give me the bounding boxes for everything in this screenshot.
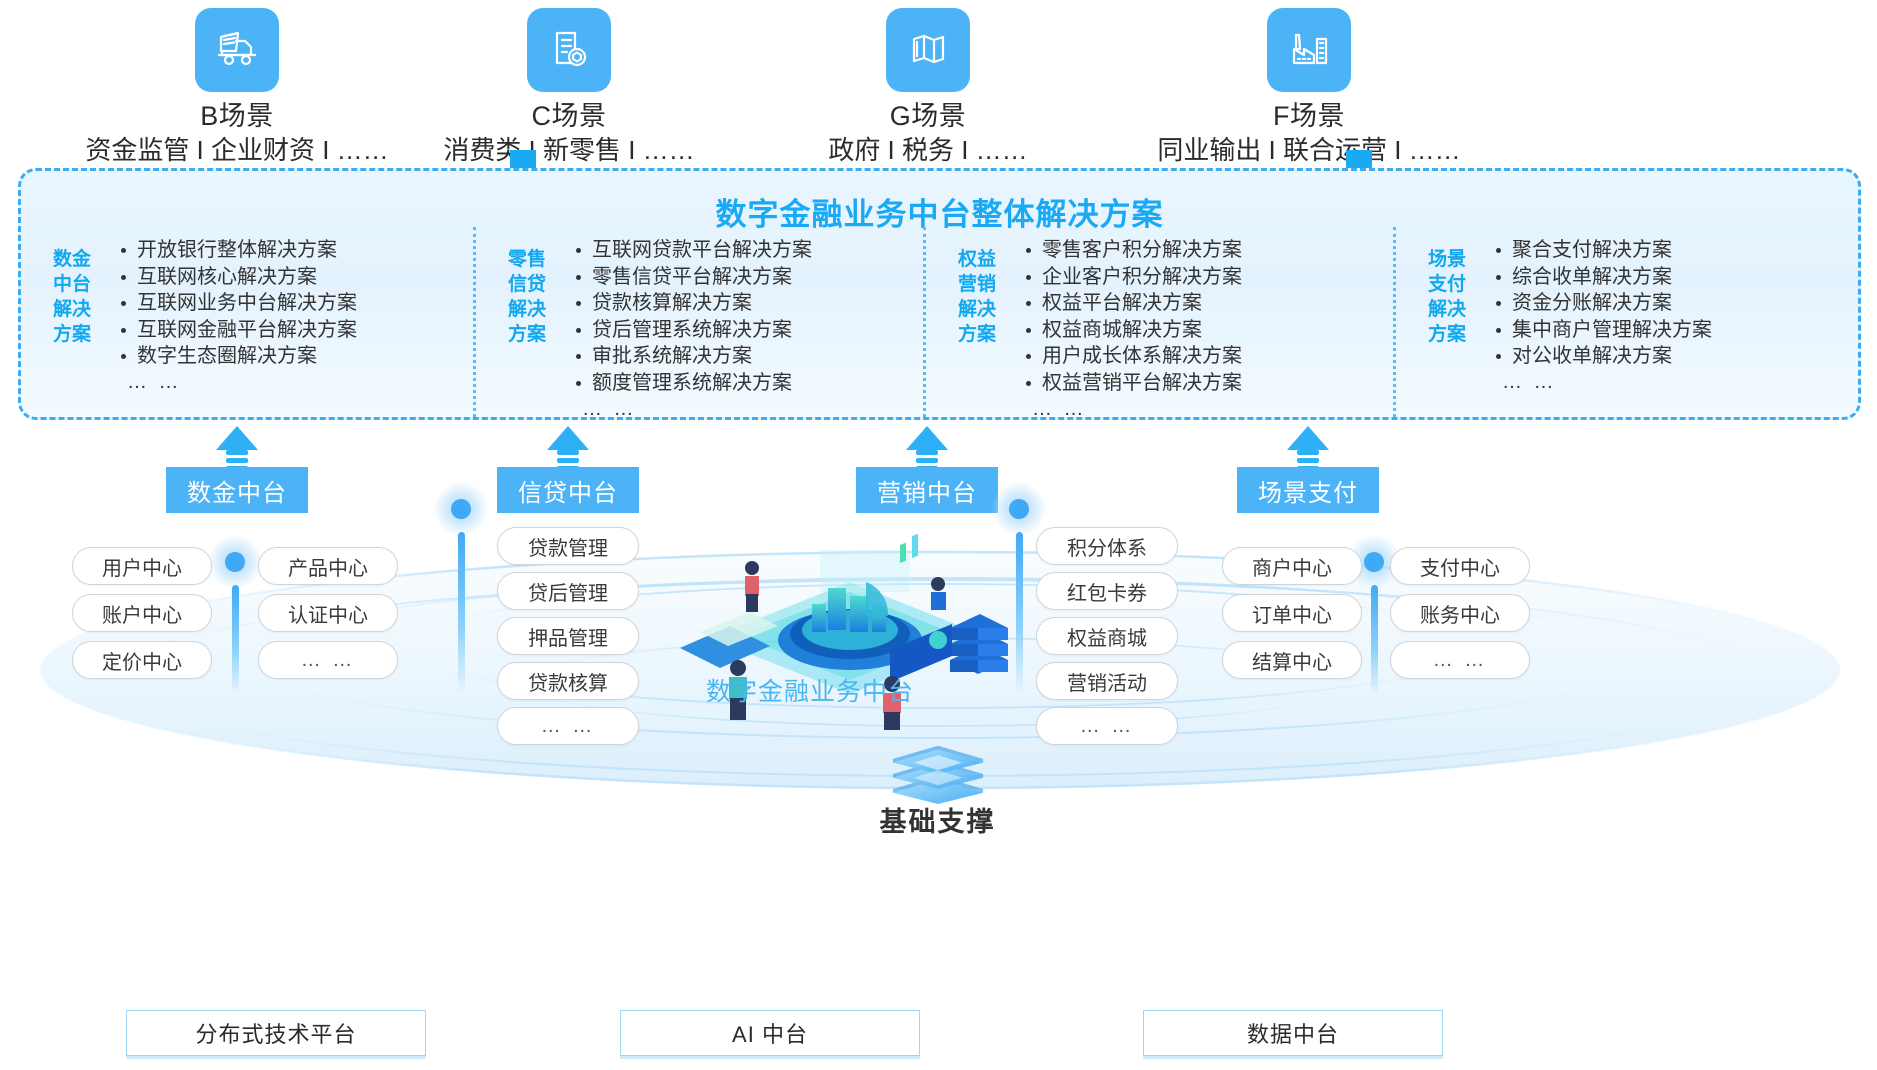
core-platform-label: 数字金融业务中台 [640,672,980,708]
scenario-title: B场景 [57,100,417,134]
platform-button-shujin[interactable]: 数金中台 [166,467,308,513]
truck-shipping-icon [195,8,279,92]
list-item: 企业客户积分解决方案 [1024,264,1242,291]
arrow-head [906,426,948,450]
list-item: 互联网贷款平台解决方案 [574,237,812,264]
column-ellipsis: … … [564,397,812,421]
node-dot [451,499,471,519]
column-ellipsis: … … [1014,397,1242,421]
factory-building-icon [1267,8,1351,92]
list-item: 零售信贷平台解决方案 [574,264,812,291]
node-halo [992,482,1046,536]
column-label: 零售 信贷 解决 方案 [490,247,564,347]
node-stem [232,585,239,695]
solution-column-shujin[interactable]: 数金 中台 解决 方案 开放银行整体解决方案 互联网核心解决方案 互联网业务中台… [21,227,473,417]
scenario-subtitle: 同业输出 I 联合运营 I …… [1129,134,1489,168]
diagram-root: B场景 资金监管 I 企业财资 I …… C场景 消费类 I 新零售 I …… [0,0,1877,1070]
pill-pricing-center[interactable]: 定价中心 [72,641,212,679]
pill-settlement-center[interactable]: 结算中心 [1222,641,1362,679]
pill-user-center[interactable]: 用户中心 [72,547,212,585]
pill-post-loan-management[interactable]: 贷后管理 [497,572,639,610]
list-item: 用户成长体系解决方案 [1024,343,1242,370]
column-items: 开放银行整体解决方案 互联网核心解决方案 互联网业务中台解决方案 互联网金融平台… [119,231,357,370]
column-label: 数金 中台 解决 方案 [35,247,109,347]
platform-button-yingxiao[interactable]: 营销中台 [856,467,998,513]
node-stem [1371,585,1378,695]
list-item: 权益商城解决方案 [1024,317,1242,344]
column-items: 聚合支付解决方案 综合收单解决方案 资金分账解决方案 集中商户管理解决方案 对公… [1494,231,1712,370]
pill-more-shujin[interactable]: … … [258,641,398,679]
pill-collateral-management[interactable]: 押品管理 [497,617,639,655]
list-item: 互联网业务中台解决方案 [119,290,357,317]
pill-product-center[interactable]: 产品中心 [258,547,398,585]
pill-order-center[interactable]: 订单中心 [1222,594,1362,632]
solution-panel: 数字金融业务中台整体解决方案 数金 中台 解决 方案 开放银行整体解决方案 互联… [18,168,1861,420]
node-halo [208,535,262,589]
pill-points-system[interactable]: 积分体系 [1036,527,1178,565]
pill-rights-mall[interactable]: 权益商城 [1036,617,1178,655]
list-item: 资金分账解决方案 [1494,290,1712,317]
solution-column-changjingzhifu[interactable]: 场景 支付 解决 方案 聚合支付解决方案 综合收单解决方案 资金分账解决方案 集… [1393,227,1858,417]
scenario-title: C场景 [389,100,749,134]
connector-node-xindai [434,482,488,694]
scenario-subtitle: 政府 I 税务 I …… [748,134,1108,168]
pill-loan-management[interactable]: 贷款管理 [497,527,639,565]
platform-button-xindai[interactable]: 信贷中台 [497,467,639,513]
list-item: 综合收单解决方案 [1494,264,1712,291]
layers-stack-icon [878,742,998,804]
list-item: 数字生态圈解决方案 [119,343,357,370]
scenario-title: G场景 [748,100,1108,134]
document-seal-icon [527,8,611,92]
list-item: 权益平台解决方案 [1024,290,1242,317]
column-items: 零售客户积分解决方案 企业客户积分解决方案 权益平台解决方案 权益商城解决方案 … [1024,231,1242,397]
solution-column-quanyiyingxiao[interactable]: 权益 营销 解决 方案 零售客户积分解决方案 企业客户积分解决方案 权益平台解决… [923,227,1393,417]
solution-column-lingshouxindai[interactable]: 零售 信贷 解决 方案 互联网贷款平台解决方案 零售信贷平台解决方案 贷款核算解… [473,227,923,417]
node-dot [1009,499,1029,519]
node-stem [458,532,465,694]
column-ellipsis: … … [109,370,357,394]
scenario-card-g[interactable]: G场景 政府 I 税务 I …… [748,8,1108,168]
pill-auth-center[interactable]: 认证中心 [258,594,398,632]
pill-account-center[interactable]: 账户中心 [72,594,212,632]
list-item: 零售客户积分解决方案 [1024,237,1242,264]
list-item: 聚合支付解决方案 [1494,237,1712,264]
foundation-box-distributed-tech[interactable]: 分布式技术平台 [126,1010,426,1056]
pill-accounting-center[interactable]: 账务中心 [1390,594,1530,632]
scenario-card-c[interactable]: C场景 消费类 I 新零售 I …… [389,8,749,168]
foundation-box-row: 分布式技术平台 AI 中台 数据中台 [0,1010,1877,1058]
node-dot [1364,552,1384,572]
scenario-card-f[interactable]: F场景 同业输出 I 联合运营 I …… [1129,8,1489,168]
pill-more-zhifu[interactable]: … … [1390,641,1530,679]
scenario-subtitle: 资金监管 I 企业财资 I …… [57,134,417,168]
arrow-head [216,426,258,450]
list-item: 权益营销平台解决方案 [1024,370,1242,397]
pill-payment-center[interactable]: 支付中心 [1390,547,1530,585]
connector-node-shujin [208,535,262,695]
scenario-card-b[interactable]: B场景 资金监管 I 企业财资 I …… [57,8,417,168]
map-scroll-icon [886,8,970,92]
list-item: 互联网核心解决方案 [119,264,357,291]
list-item: 审批系统解决方案 [574,343,812,370]
list-item: 贷款核算解决方案 [574,290,812,317]
list-item: 集中商户管理解决方案 [1494,317,1712,344]
node-dot [225,552,245,572]
pill-more-yingxiao[interactable]: … … [1036,707,1178,745]
list-item: 开放银行整体解决方案 [119,237,357,264]
column-label: 权益 营销 解决 方案 [940,247,1014,347]
scenario-title: F场景 [1129,100,1489,134]
pill-redpacket-coupon[interactable]: 红包卡券 [1036,572,1178,610]
pill-loan-accounting[interactable]: 贷款核算 [497,662,639,700]
solution-columns: 数金 中台 解决 方案 开放银行整体解决方案 互联网核心解决方案 互联网业务中台… [21,227,1858,417]
pill-marketing-campaign[interactable]: 营销活动 [1036,662,1178,700]
arrow-head [547,426,589,450]
foundation-box-data[interactable]: 数据中台 [1143,1010,1443,1056]
node-halo [434,482,488,536]
column-items: 互联网贷款平台解决方案 零售信贷平台解决方案 贷款核算解决方案 贷后管理系统解决… [574,231,812,397]
list-item: 互联网金融平台解决方案 [119,317,357,344]
column-ellipsis: … … [1484,370,1712,394]
platform-button-zhifu[interactable]: 场景支付 [1237,467,1379,513]
list-item: 贷后管理系统解决方案 [574,317,812,344]
scenario-subtitle: 消费类 I 新零售 I …… [389,134,749,168]
pill-more-xindai[interactable]: … … [497,707,639,745]
pill-merchant-center[interactable]: 商户中心 [1222,547,1362,585]
scenario-row: B场景 资金监管 I 企业财资 I …… C场景 消费类 I 新零售 I …… [0,8,1877,168]
column-label: 场景 支付 解决 方案 [1410,247,1484,347]
list-item: 额度管理系统解决方案 [574,370,812,397]
foundation-box-ai[interactable]: AI 中台 [620,1010,920,1056]
list-item: 对公收单解决方案 [1494,343,1712,370]
foundation-label: 基础支撑 [700,800,1175,839]
arrow-head [1287,426,1329,450]
